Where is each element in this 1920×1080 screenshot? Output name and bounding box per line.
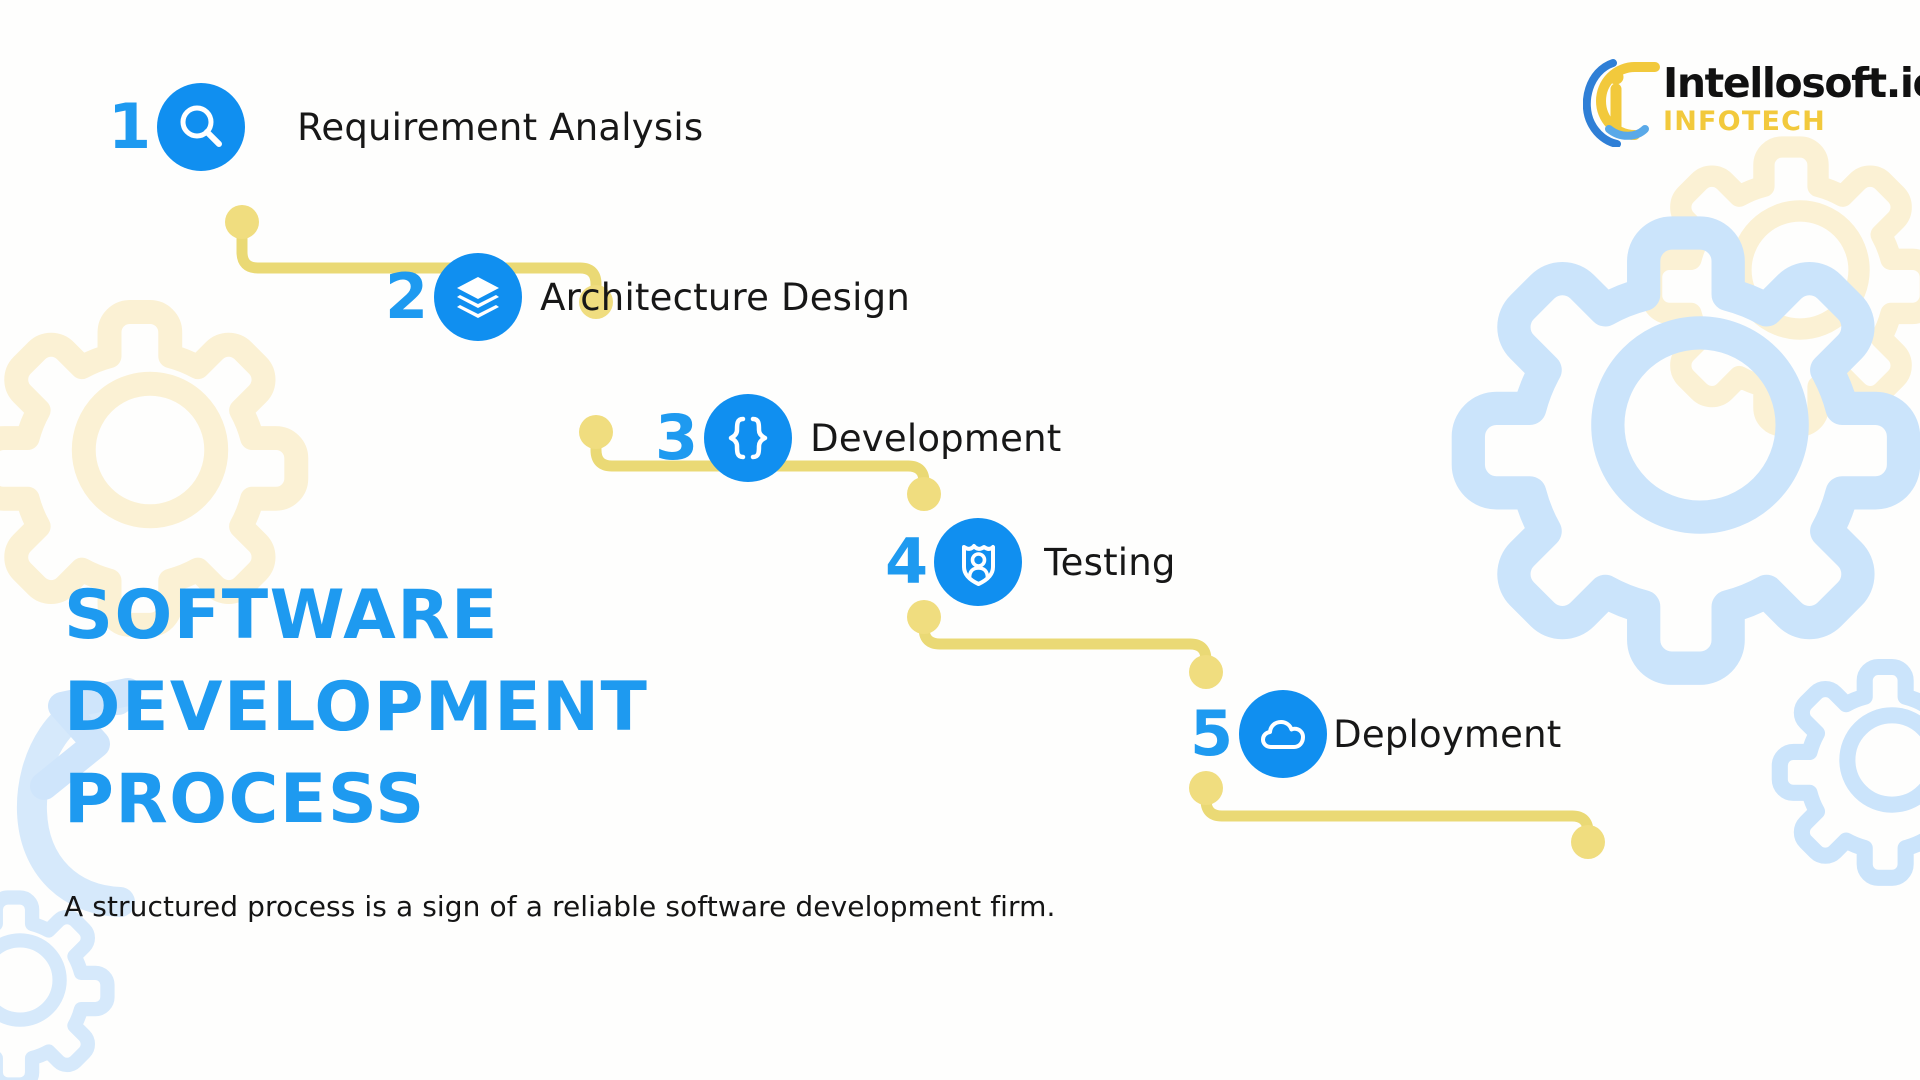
- brand-logo-text: Intellosoft.io INFOTECH: [1663, 64, 1920, 136]
- layers-stack-icon: [450, 269, 506, 325]
- step-number-4: 4: [885, 531, 928, 593]
- step-icon-circle-2: [434, 253, 522, 341]
- curly-braces-icon: [720, 410, 776, 466]
- step-item-1[interactable]: 1 Requirement Analysis: [108, 83, 703, 171]
- page-title-line-2: DEVELOPMENT: [64, 662, 1064, 754]
- connector-dot-5-top: [1571, 825, 1605, 859]
- brand-logo: Intellosoft.io INFOTECH: [1583, 48, 1873, 153]
- step-icon-circle-3: [704, 394, 792, 482]
- page-subtitle: A structured process is a sign of a reli…: [64, 890, 1056, 923]
- step-number-5: 5: [1190, 703, 1233, 765]
- cloud-icon: [1255, 706, 1311, 762]
- step-label-2: Architecture Design: [540, 276, 910, 319]
- step-label-5: Deployment: [1333, 713, 1561, 756]
- step-icon-circle-5: [1239, 690, 1327, 778]
- step-icon-circle-4: [934, 518, 1022, 606]
- gear-decoration-left-blue-small: [0, 898, 107, 1080]
- intellosoft-circle-i-mark-icon: [1583, 55, 1661, 147]
- connector-dot-1-bottom: [225, 205, 259, 239]
- page-title-line-3: PROCESS: [64, 754, 1064, 846]
- step-number-1: 1: [108, 96, 151, 158]
- step-label-4: Testing: [1044, 541, 1175, 584]
- gear-decoration-right-yellow: [1652, 147, 1920, 426]
- gear-decoration-right-blue-small: [1780, 667, 1920, 878]
- infographic-canvas: Intellosoft.io INFOTECH SOFTWARE DEVELOP…: [0, 0, 1920, 1080]
- step-item-2[interactable]: 2 Architecture Design: [385, 253, 910, 341]
- connector-dot-2-bottom: [579, 415, 613, 449]
- page-title: SOFTWARE DEVELOPMENT PROCESS: [64, 570, 1064, 845]
- step-number-2: 2: [385, 266, 428, 328]
- step-item-5[interactable]: 5 Deployment: [1190, 690, 1561, 778]
- gear-decoration-right-blue: [1468, 233, 1903, 668]
- step-item-3[interactable]: 3 Development: [655, 394, 1061, 482]
- step-label-1: Requirement Analysis: [297, 106, 703, 149]
- shield-user-icon: [950, 534, 1006, 590]
- magnifier-icon: [173, 99, 229, 155]
- connector-dot-4-top: [1189, 655, 1223, 689]
- connector-4-to-5: [1206, 782, 1588, 850]
- step-label-3: Development: [810, 417, 1061, 460]
- connector-dot-3-top: [907, 477, 941, 511]
- brand-name: Intellosoft.io: [1663, 64, 1920, 103]
- step-item-4[interactable]: 4 Testing: [885, 518, 1176, 606]
- step-icon-circle-1: [157, 83, 245, 171]
- brand-tagline: INFOTECH: [1663, 106, 1920, 137]
- step-number-3: 3: [655, 407, 698, 469]
